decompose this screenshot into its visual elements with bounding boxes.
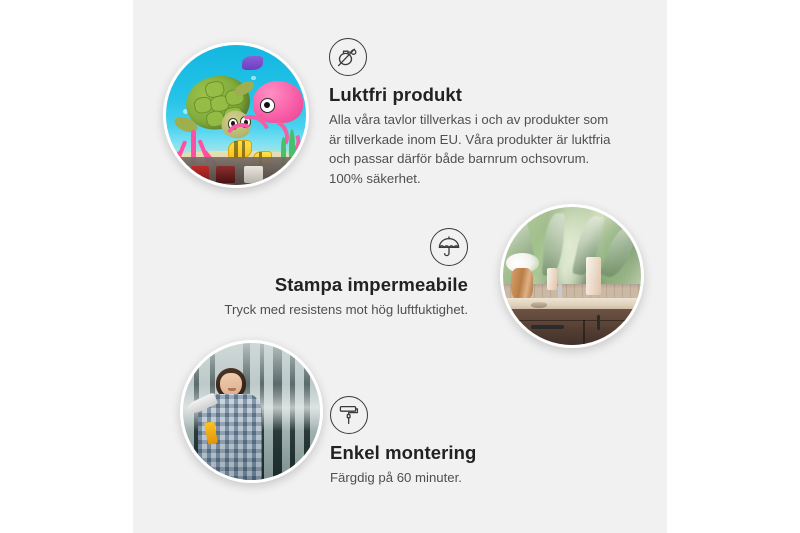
photo-ocean-cartoon	[163, 42, 309, 188]
feature-title: Enkel montering	[330, 441, 590, 464]
feature-body: Färgdig på 60 minuter.	[330, 468, 590, 488]
feature-waterproof-print: Stampa impermeabile Tryck med resistens …	[213, 228, 468, 320]
feature-easy-mounting: Enkel montering Färgdig på 60 minuter.	[330, 396, 590, 488]
toiletry-bottle	[547, 268, 557, 290]
feature-title: Luktfri produkt	[329, 83, 619, 106]
no-smell-spray-bottle-icon	[329, 38, 367, 76]
paint-roller-icon	[330, 396, 368, 434]
octopus-eye	[260, 98, 275, 113]
purple-fish-icon	[242, 56, 263, 70]
bubble-icon	[251, 76, 255, 80]
umbrella-icon	[430, 228, 468, 266]
feature-odour-free: Luktfri produkt Alla våra tavlor tillver…	[329, 38, 619, 188]
feature-body: Alla våra tavlor tillverkas i och av pro…	[329, 110, 619, 188]
soap-dish	[531, 302, 548, 308]
feature-body: Tryck med resistens mot hög luftfuktighe…	[213, 300, 468, 320]
toiletry-bottle	[586, 257, 601, 296]
feature-title: Stampa impermeabile	[213, 273, 468, 296]
frame-strip	[166, 157, 306, 185]
vase	[511, 268, 533, 301]
content-panel: Luktfri produkt Alla våra tavlor tillver…	[133, 0, 667, 533]
page-root: Luktfri produkt Alla våra tavlor tillver…	[0, 0, 800, 533]
photo-bathroom-botanical	[500, 204, 644, 348]
vanity-cabinet	[511, 309, 641, 345]
photo-woman-paint-roller	[180, 340, 323, 483]
